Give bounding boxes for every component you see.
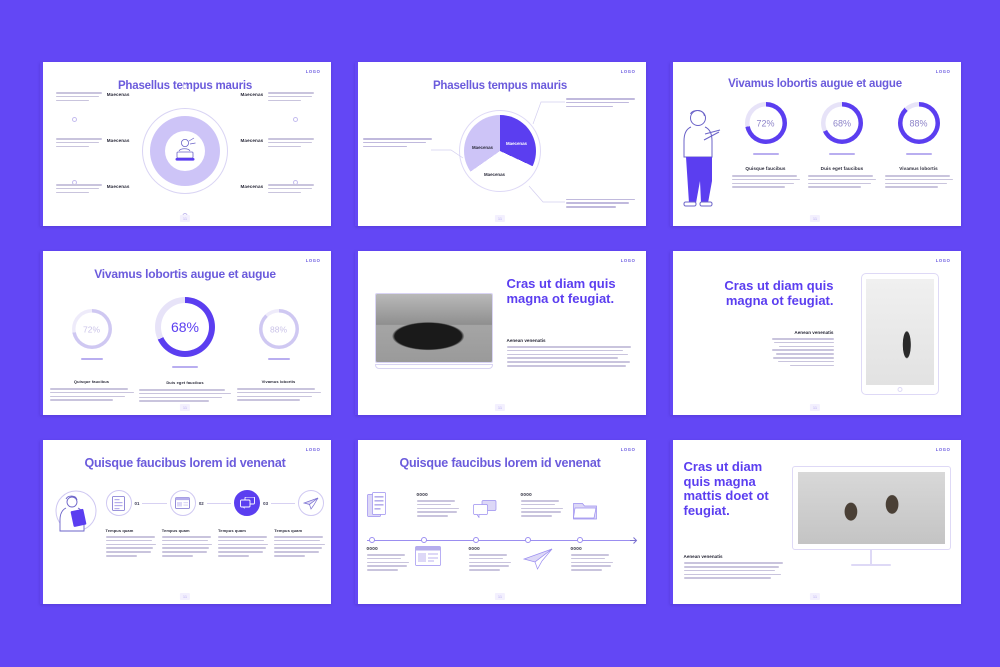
- step-body-lines: [274, 536, 324, 557]
- donut-chart: 68%: [155, 297, 215, 357]
- diagram-item-label: Maecenas: [107, 138, 130, 143]
- card-heading: Duis eget faucibus: [808, 166, 876, 171]
- documents-icon: [367, 492, 387, 520]
- diagram-item-label: Maecenas: [241, 92, 264, 97]
- step-icon-01[interactable]: [106, 490, 132, 516]
- slide-thumbnail-7[interactable]: LOGO Quisque faucibus lorem id venenat 0…: [40, 440, 331, 604]
- monitor-foot: [851, 564, 891, 566]
- step-card[interactable]: Tempus quam: [274, 528, 324, 559]
- diagram-item-body-lines: [268, 184, 314, 195]
- browser-window-icon: [175, 497, 190, 509]
- pie-chart[interactable]: Maecenas Maecenas Maecenas: [459, 110, 541, 192]
- logo-text: LOGO: [936, 69, 951, 74]
- page-number: 11: [810, 593, 820, 600]
- paper-plane-icon: [523, 548, 553, 570]
- tablet-home-button: [897, 387, 902, 392]
- donut-value-label: 88%: [909, 118, 927, 128]
- donut-chart: 68%: [821, 102, 863, 144]
- logo-text: LOGO: [621, 69, 636, 74]
- card-body-lines: [237, 388, 321, 401]
- logo-text: LOGO: [936, 447, 951, 452]
- timeline-body-lines: [521, 500, 565, 517]
- step-icon-04[interactable]: [298, 490, 324, 516]
- card-body-lines: [885, 175, 953, 188]
- timeline-axis: [367, 540, 634, 541]
- slide-thumbnail-8[interactable]: LOGO Quisque faucibus lorem id venenat: [355, 440, 646, 604]
- pie-slice-label: Maecenas: [506, 141, 527, 146]
- body-heading: Aenean venenatis: [507, 338, 634, 343]
- logo-text: LOGO: [306, 69, 321, 74]
- timeline-entry[interactable]: 0000: [469, 546, 513, 573]
- timeline-body-lines: [469, 554, 513, 571]
- slide-thumbnail-6[interactable]: LOGO Cras ut diam quis magna ot feugiat.…: [670, 251, 961, 415]
- pie-slices: Maecenas Maecenas Maecenas: [464, 115, 536, 187]
- diagram-item[interactable]: Maecenas: [241, 138, 327, 149]
- diagram-node: [183, 84, 188, 89]
- pie-callout: [566, 98, 638, 109]
- page-number: 11: [180, 215, 190, 222]
- timeline-body-lines: [571, 554, 615, 571]
- timeline-year: 0000: [367, 546, 411, 551]
- logo-text: LOGO: [306, 447, 321, 452]
- card-heading: Quisque faucibus: [732, 166, 800, 171]
- donut-chart: 88%: [898, 102, 940, 144]
- page-number: 11: [810, 404, 820, 411]
- card-heading: Vivamus lobortis: [237, 379, 321, 384]
- timeline-body-lines: [417, 500, 461, 517]
- slide-title: Phasellus tempus mauris: [355, 80, 646, 92]
- donut-value-label: 88%: [270, 324, 287, 334]
- slide-title: Vivamus lobortis augue et augue: [670, 78, 961, 90]
- step-connector: [207, 503, 231, 504]
- page-number: 11: [810, 215, 820, 222]
- diagram-item[interactable]: Maecenas: [44, 138, 130, 149]
- logo-text: LOGO: [306, 258, 321, 263]
- card-heading: Duis eget faucibus: [139, 380, 231, 385]
- pie-callout: [363, 138, 435, 149]
- timeline-dot[interactable]: [421, 537, 428, 544]
- left-accent-bar: [40, 440, 43, 604]
- paper-plane-icon: [303, 497, 319, 510]
- card-body-lines: [139, 389, 231, 402]
- timeline-year: 0000: [521, 492, 565, 497]
- diagram-item-label: Maecenas: [107, 184, 130, 189]
- slide-thumbnail-4[interactable]: LOGO Vivamus lobortis augue et augue 72%…: [40, 251, 331, 415]
- slide-title: Cras ut diam quis magna ot feugiat.: [507, 277, 634, 306]
- body-text-lines: [507, 346, 634, 367]
- step-connector: [271, 503, 295, 504]
- person-with-laptop-illustration: [170, 137, 200, 165]
- step-card[interactable]: Tempus quam: [106, 528, 156, 559]
- donut-legend-lines: [906, 153, 932, 157]
- slide-title: Vivamus lobortis augue et augue: [40, 267, 331, 281]
- donut-legend-lines: [81, 358, 103, 362]
- pie-callout: [566, 199, 638, 210]
- step-connector: [142, 503, 166, 504]
- page-number: 11: [180, 404, 190, 411]
- diagram-node: [293, 117, 298, 122]
- pie-slice-label: Maecenas: [472, 145, 493, 150]
- timeline-arrow-icon: [630, 536, 638, 545]
- monitor-screen: [792, 466, 951, 550]
- diagram-item[interactable]: Maecenas: [44, 184, 130, 195]
- body-text-lines: [684, 562, 786, 579]
- diagram-item-body-lines: [56, 184, 102, 195]
- donut-card[interactable]: 72% Quisque faucibus: [732, 102, 800, 190]
- callout-body-lines: [566, 98, 638, 107]
- circular-diagram: Maecenas Maecenas Maecenas Maecenas: [48, 86, 323, 216]
- donut-value-label: 68%: [171, 319, 199, 335]
- donut-chart: 72%: [72, 309, 112, 349]
- step-heading: Tempus quam: [218, 528, 268, 533]
- timeline-entry[interactable]: 0000: [367, 546, 411, 573]
- donut-card[interactable]: 88% Vivamus lobortis: [237, 297, 321, 403]
- photo-boat-harbor: [376, 294, 492, 362]
- donut-card[interactable]: 68% Duis eget faucibus: [808, 102, 876, 190]
- slide-deck-grid: LOGO Phasellus tempus mauris: [0, 0, 1000, 667]
- card-heading: Quisque faucibus: [50, 379, 134, 384]
- diagram-item-label: Maecenas: [241, 138, 264, 143]
- left-accent-bar: [40, 62, 43, 226]
- donut-card[interactable]: 72% Quisque faucibus: [50, 297, 134, 403]
- step-icon-02[interactable]: [170, 490, 196, 516]
- donut-value-label: 72%: [83, 324, 100, 334]
- timeline-body-lines: [367, 554, 411, 571]
- step-body-lines: [162, 536, 212, 557]
- donut-legend-lines: [753, 153, 779, 157]
- donut-card[interactable]: 88% Vivamus lobortis: [885, 102, 953, 190]
- card-body-lines: [732, 175, 800, 188]
- photo-kittens: [798, 472, 945, 544]
- left-accent-bar: [670, 440, 673, 604]
- left-accent-bar: [355, 251, 358, 415]
- card-body-lines: [50, 388, 134, 401]
- step-number: 01: [135, 501, 140, 506]
- step-heading: Tempus quam: [162, 528, 212, 533]
- diagram-item[interactable]: Maecenas: [241, 184, 327, 195]
- card-heading: Vivamus lobortis: [885, 166, 953, 171]
- body-heading: Aenean venenatis: [686, 330, 834, 335]
- diagram-item[interactable]: Maecenas: [241, 92, 327, 103]
- document-list-icon: [112, 496, 125, 511]
- logo-text: LOGO: [621, 258, 636, 263]
- donut-legend-lines: [268, 358, 290, 362]
- step-card[interactable]: Tempus quam: [218, 528, 268, 559]
- donut-card-highlighted[interactable]: 68% Duis eget faucibus: [139, 297, 231, 404]
- page-number: 11: [495, 404, 505, 411]
- laptop-mockup: [375, 293, 493, 369]
- step-body-lines: [218, 536, 268, 557]
- donut-legend-lines: [829, 153, 855, 157]
- folder-icon: [573, 500, 597, 520]
- step-heading: Tempus quam: [106, 528, 156, 533]
- step-card[interactable]: Tempus quam: [162, 528, 212, 559]
- chat-bubbles-icon: [473, 500, 497, 518]
- person-reading-illustration: [50, 490, 102, 532]
- pie-slice-label: Maecenas: [484, 172, 505, 177]
- step-icon-03[interactable]: [234, 490, 260, 516]
- photo-dalmatian-dog: [866, 279, 934, 385]
- slide-thumbnail-2[interactable]: LOGO Phasellus tempus mauris Maecenas Ma…: [355, 62, 646, 226]
- browser-window-icon: [415, 546, 441, 566]
- donut-legend-lines: [172, 366, 198, 370]
- timeline-year: 0000: [417, 492, 461, 497]
- timeline-year: 0000: [469, 546, 513, 551]
- logo-text: LOGO: [936, 258, 951, 263]
- slide-title: Cras ut diam quis magna mattis doet ot f…: [684, 460, 786, 518]
- left-accent-bar: [670, 62, 673, 226]
- diagram-item-label: Maecenas: [241, 184, 264, 189]
- diagram-node: [72, 117, 77, 122]
- monitor-mockup: [792, 466, 951, 566]
- donut-value-label: 68%: [833, 118, 851, 128]
- left-accent-bar: [40, 251, 43, 415]
- body-heading: Aenean venenatis: [684, 554, 786, 559]
- page-number: 11: [495, 215, 505, 222]
- slide-thumbnail-5[interactable]: LOGO Cras ut diam quis magna ot feugiat.…: [355, 251, 646, 415]
- slide-thumbnail-9[interactable]: LOGO Cras ut diam quis magna mattis doet…: [670, 440, 961, 604]
- laptop-base: [375, 364, 493, 369]
- left-accent-bar: [355, 62, 358, 226]
- callout-body-lines: [363, 138, 435, 147]
- timeline-entry[interactable]: 0000: [521, 492, 565, 519]
- diagram-item-body-lines: [56, 92, 102, 103]
- slide-title: Cras ut diam quis magna ot feugiat.: [686, 279, 834, 308]
- page-number: 11: [495, 593, 505, 600]
- timeline-year: 0000: [571, 546, 615, 551]
- page-number: 11: [180, 593, 190, 600]
- timeline-dot[interactable]: [473, 537, 480, 544]
- diagram-item-body-lines: [268, 92, 314, 103]
- monitor-neck: [870, 550, 872, 564]
- left-accent-bar: [670, 251, 673, 415]
- step-heading: Tempus quam: [274, 528, 324, 533]
- slide-thumbnail-1[interactable]: LOGO Phasellus tempus mauris: [40, 62, 331, 226]
- timeline-dot[interactable]: [577, 537, 584, 544]
- person-pointing-illustration: [678, 106, 722, 211]
- callout-body-lines: [566, 199, 638, 208]
- timeline-dot[interactable]: [369, 537, 376, 544]
- diagram-item[interactable]: Maecenas: [44, 92, 130, 103]
- slide-thumbnail-3[interactable]: LOGO Vivamus lobortis augue et augue 72%…: [670, 62, 961, 226]
- diagram-item-label: Maecenas: [107, 92, 130, 97]
- slide-title: Quisque faucibus lorem id venenat: [40, 456, 331, 470]
- timeline-entry[interactable]: 0000: [417, 492, 461, 519]
- body-text-lines: [772, 338, 834, 368]
- left-accent-bar: [355, 440, 358, 604]
- donut-chart: 72%: [745, 102, 787, 144]
- chat-bubbles-icon: [240, 497, 255, 509]
- step-body-lines: [106, 536, 156, 557]
- step-number: 03: [263, 501, 268, 506]
- timeline-dot[interactable]: [525, 537, 532, 544]
- logo-text: LOGO: [621, 447, 636, 452]
- diagram-item-body-lines: [56, 138, 102, 149]
- diagram-item-body-lines: [268, 138, 314, 149]
- slide-title: Quisque faucibus lorem id venenat: [355, 456, 646, 470]
- donut-value-label: 72%: [756, 118, 774, 128]
- step-number: 02: [199, 501, 204, 506]
- laptop-screen: [375, 293, 493, 363]
- donut-chart: 88%: [259, 309, 299, 349]
- card-body-lines: [808, 175, 876, 188]
- tablet-mockup: [861, 273, 939, 395]
- timeline-entry[interactable]: 0000: [571, 546, 615, 573]
